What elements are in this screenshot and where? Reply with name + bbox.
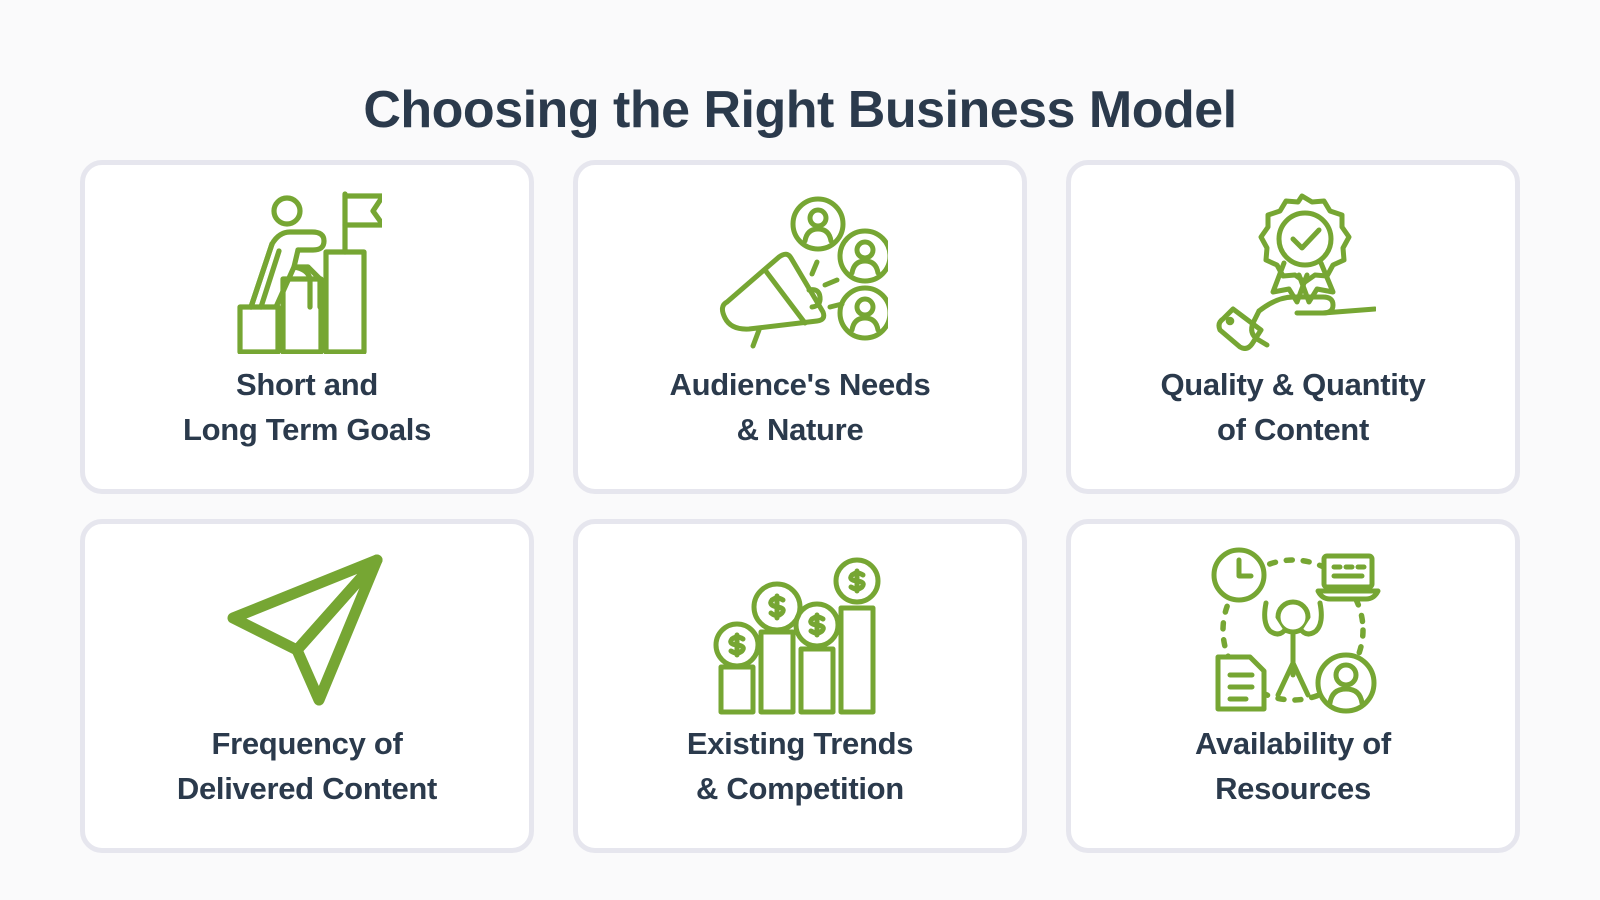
card-label: Availability ofResources (1195, 722, 1391, 812)
card-label: Quality & Quantityof Content (1160, 363, 1425, 453)
card-label: Short andLong Term Goals (183, 363, 431, 453)
money-growth-chart-icon (713, 540, 888, 720)
resources-person-network-icon (1206, 540, 1381, 720)
card-existing-trends-competition[interactable]: Existing Trends& Competition (573, 519, 1027, 853)
hand-award-badge-icon (1211, 181, 1376, 361)
card-label: Existing Trends& Competition (687, 722, 913, 812)
card-frequency-delivered-content[interactable]: Frequency ofDelivered Content (80, 519, 534, 853)
card-quality-quantity-content[interactable]: Quality & Quantityof Content (1066, 160, 1520, 494)
card-label: Audience's Needs& Nature (669, 363, 930, 453)
infographic-page: Choosing the Right Business Model (0, 0, 1600, 900)
card-label: Frequency ofDelivered Content (177, 722, 437, 812)
card-availability-resources[interactable]: Availability ofResources (1066, 519, 1520, 853)
cards-grid: Short andLong Term Goals (80, 160, 1520, 853)
climbing-bars-flag-icon (232, 181, 382, 361)
page-title: Choosing the Right Business Model (0, 81, 1600, 141)
paper-plane-icon (225, 540, 390, 720)
megaphone-audience-icon (713, 181, 888, 361)
card-audience-needs-nature[interactable]: Audience's Needs& Nature (573, 160, 1027, 494)
card-short-long-term-goals[interactable]: Short andLong Term Goals (80, 160, 534, 494)
